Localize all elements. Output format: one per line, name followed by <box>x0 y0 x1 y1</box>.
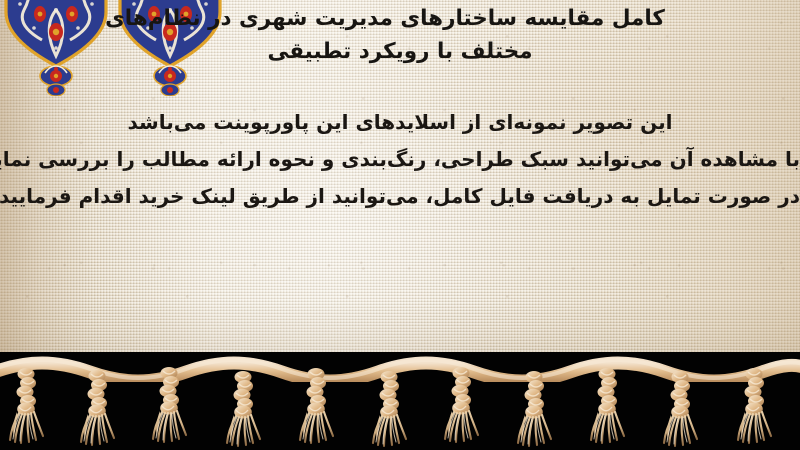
tassel <box>10 368 43 443</box>
slide-title-line-1: کامل مقایسه ساختارهای مدیریت شهری در نظا… <box>16 2 784 35</box>
tassel <box>518 371 551 446</box>
fringe-tassels <box>0 352 800 450</box>
tassel <box>738 368 771 443</box>
tassel <box>227 371 260 446</box>
slide-title: کامل مقایسه ساختارهای مدیریت شهری در نظا… <box>0 2 800 68</box>
slide-body-line-3: در صورت تمایل به دریافت فایل کامل، می‌تو… <box>0 178 800 215</box>
slide-body-line-2: با مشاهده آن می‌توانید سبک طراحی، رنگ‌بن… <box>0 141 800 178</box>
slide-text-area: کامل مقایسه ساختارهای مدیریت شهری در نظا… <box>0 0 800 378</box>
slide-canvas: کامل مقایسه ساختارهای مدیریت شهری در نظا… <box>0 0 800 450</box>
knotted-tassel-fringe <box>0 352 800 450</box>
tassel <box>591 368 624 443</box>
slide-body-text: این تصویر نمونه‌ای از اسلایدهای این پاور… <box>0 104 800 215</box>
slide-title-line-2: مختلف با رویکرد تطبیقی <box>16 35 784 68</box>
tassel <box>81 370 114 445</box>
slide-body-line-1: این تصویر نمونه‌ای از اسلایدهای این پاور… <box>0 104 800 141</box>
tassel <box>153 367 186 442</box>
tassel <box>664 371 697 446</box>
tassel <box>300 368 333 443</box>
tassel <box>445 367 478 442</box>
tassel <box>373 371 406 446</box>
